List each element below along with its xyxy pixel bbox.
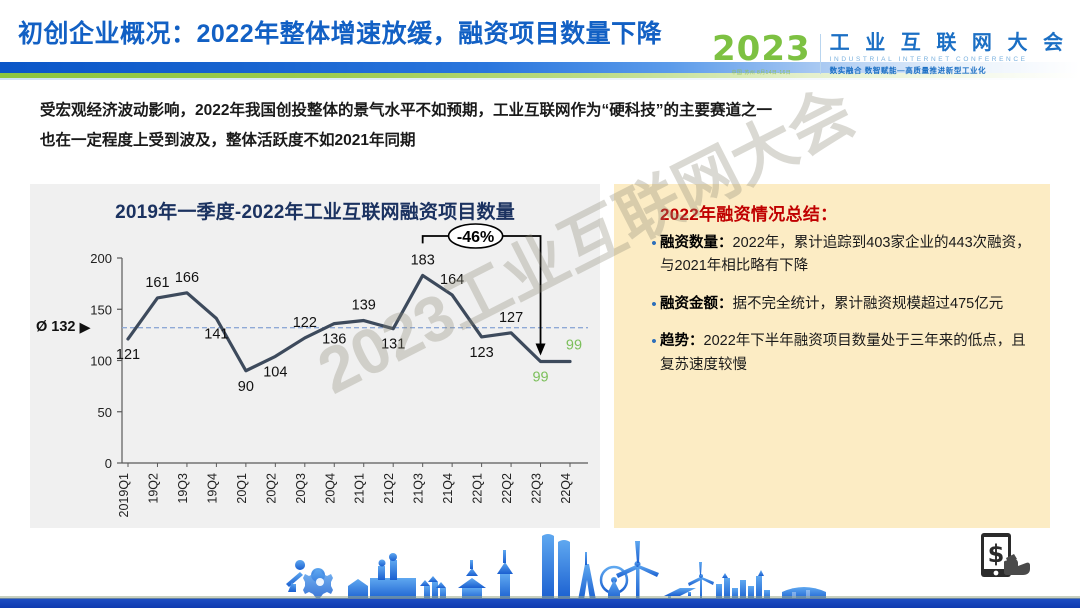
summary-item-label: 趋势： — [660, 333, 704, 349]
logo-slogan: 数实融合 数智赋能—高质量推进新型工业化 — [830, 65, 1068, 76]
data-point-label: 139 — [352, 298, 376, 314]
lead-line-2: 也在一定程度上受到波及，整体活跃度不如2021年同期 — [40, 126, 1050, 156]
page-title: 初创企业概况：2022年整体增速放缓，融资项目数量下降 — [18, 14, 662, 50]
x-axis-tick-label: 20Q4 — [323, 473, 337, 504]
lead-line-1: 受宏观经济波动影响，2022年我国创投整体的景气水平不如预期，工业互联网作为“硬… — [40, 96, 1050, 126]
x-axis-tick-label: 19Q4 — [205, 473, 219, 504]
y-axis-tick-label: 100 — [90, 354, 112, 369]
average-value: Ø 132 — [36, 319, 76, 335]
data-point-label: 136 — [322, 332, 346, 348]
logo-year-block: 2023 中国·苏州 8月14日-16日 — [712, 32, 820, 76]
x-axis-tick-label: 20Q2 — [264, 473, 278, 504]
data-point-label: 183 — [411, 252, 435, 268]
bullet-icon: • — [648, 232, 660, 279]
x-axis-tick-label: 20Q1 — [235, 473, 249, 504]
slide-root: 初创企业概况：2022年整体增速放缓，融资项目数量下降 2023 中国·苏州 8… — [0, 0, 1080, 608]
data-point-label: 104 — [263, 364, 287, 380]
average-marker-label: Ø 132 ▶ — [36, 319, 91, 335]
x-axis-tick-label: 20Q3 — [294, 473, 308, 504]
summary-item-text: 融资数量：2022年，累计追踪到403家企业的443次融资，与2021年相比略有… — [660, 232, 1040, 279]
logo-name-block: 工 业 互 联 网 大 会 INDUSTRIAL INTERNET CONFER… — [830, 33, 1068, 76]
data-point-label: 164 — [440, 272, 464, 288]
x-axis-tick-label: 19Q3 — [176, 473, 190, 504]
footer-skyline-decoration — [0, 530, 1080, 608]
logo-name-cn: 工 业 互 联 网 大 会 — [830, 33, 1068, 54]
lead-paragraph: 受宏观经济波动影响，2022年我国创投整体的景气水平不如预期，工业互联网作为“硬… — [40, 96, 1050, 156]
logo-name-en: INDUSTRIAL INTERNET CONFERENCE — [830, 56, 1068, 63]
data-point-label: 166 — [175, 270, 199, 286]
x-axis-tick-label: 2019Q1 — [117, 473, 131, 518]
x-axis-tick-label: 22Q1 — [471, 473, 485, 504]
summary-list: •融资数量：2022年，累计追踪到403家企业的443次融资，与2021年相比略… — [648, 232, 1040, 391]
x-axis-tick-label: 22Q2 — [500, 473, 514, 504]
data-point-label: 123 — [469, 345, 493, 361]
annotation-bracket — [423, 236, 541, 346]
x-axis-tick-label: 22Q4 — [559, 473, 573, 504]
data-point-label: 141 — [204, 326, 228, 342]
x-axis-tick-label: 22Q3 — [530, 473, 544, 504]
bullet-icon: • — [648, 330, 660, 377]
y-axis-tick-label: 200 — [90, 251, 112, 266]
x-axis-tick-label: 21Q4 — [441, 473, 455, 504]
data-point-label-highlight: 99 — [566, 338, 582, 354]
data-point-label: 90 — [238, 379, 254, 395]
summary-item-label: 融资金额： — [660, 296, 733, 312]
header-thin-bar — [0, 78, 1080, 80]
data-point-label: 99 — [532, 370, 548, 386]
x-axis-tick-label: 21Q3 — [412, 473, 426, 504]
logo-year-subtitle: 中国·苏州 8月14日-16日 — [732, 69, 792, 76]
summary-item-text: 趋势：2022年下半年融资项目数量处于三年来的低点，且复苏速度较慢 — [660, 330, 1040, 377]
summary-item-text: 融资金额：据不完全统计，累计融资规模超过475亿元 — [660, 293, 1040, 316]
annotation-label: -46% — [457, 229, 494, 246]
data-point-label: 161 — [145, 275, 169, 291]
data-point-label: 131 — [381, 337, 405, 353]
summary-item: •趋势：2022年下半年融资项目数量处于三年来的低点，且复苏速度较慢 — [648, 330, 1040, 377]
bullet-icon: • — [648, 293, 660, 316]
conference-logo: 2023 中国·苏州 8月14日-16日 工 业 互 联 网 大 会 INDUS… — [712, 30, 1068, 78]
chart-plot-area: 0501001502001211611661419010412213613913… — [30, 184, 600, 528]
logo-divider — [820, 34, 821, 74]
data-point-label: 127 — [499, 310, 523, 326]
line-chart-svg: 0501001502001211611661419010412213613913… — [30, 184, 600, 528]
summary-item: •融资金额：据不完全统计，累计融资规模超过475亿元 — [648, 293, 1040, 316]
x-axis-tick-label: 21Q1 — [353, 473, 367, 504]
logo-year: 2023 — [712, 32, 811, 66]
x-axis-tick-label: 21Q2 — [382, 473, 396, 504]
y-axis-tick-label: 0 — [105, 456, 112, 471]
data-point-label: 121 — [116, 347, 140, 363]
summary-title: 2022年融资情况总结： — [660, 200, 837, 225]
y-axis-tick-label: 50 — [98, 405, 112, 420]
data-point-label: 122 — [293, 315, 317, 331]
y-axis-tick-label: 150 — [90, 302, 112, 317]
summary-item: •融资数量：2022年，累计追踪到403家企业的443次融资，与2021年相比略… — [648, 232, 1040, 279]
summary-item-label: 融资数量： — [660, 235, 733, 251]
x-axis-tick-label: 19Q2 — [146, 473, 160, 504]
